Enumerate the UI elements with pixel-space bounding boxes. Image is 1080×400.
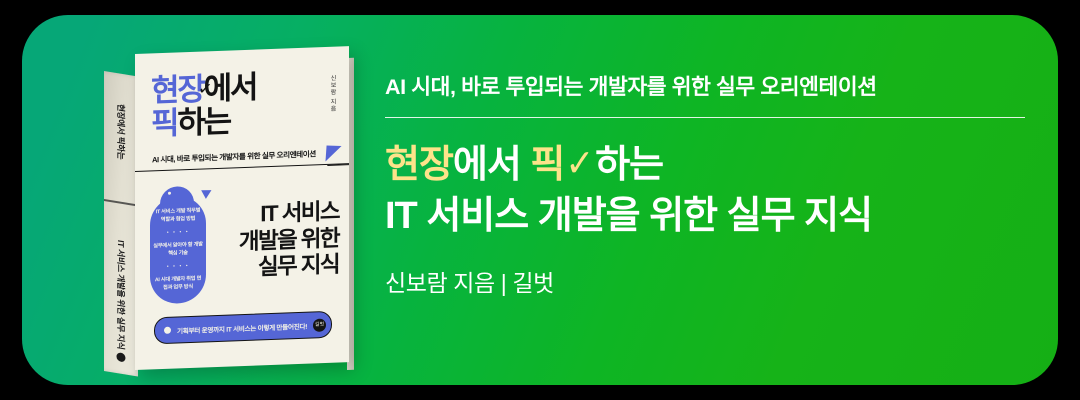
promo-title-hl-2: 픽 xyxy=(530,144,564,186)
cover-subtitle: IT 서비스 개발을 위한 실무 지식 xyxy=(239,199,339,282)
promo-author-publisher: 신보람 지음 | 길벗 xyxy=(385,264,1035,298)
promo-text-column: AI 시대, 바로 투입되는 개발자를 위한 실무 오리엔테이션 현장에서 픽✓… xyxy=(385,75,1035,298)
promo-checkmark-icon: ✓ xyxy=(566,139,594,190)
cover-title: 현장에서 픽하는 xyxy=(151,69,331,141)
spine-divider xyxy=(104,199,138,206)
spine-title-lower: IT 서비스 개발을 위한 실무 지식 xyxy=(115,214,127,376)
cover-title-hl-2: 픽 xyxy=(151,105,177,141)
blob-head-icon xyxy=(160,186,194,204)
blob-item-3: AI 시대 개발자 취업 면접과 업무 방식 xyxy=(150,268,206,299)
book-spine: 현장에서 픽하는 IT 서비스 개발을 위한 실무 지식 xyxy=(104,71,138,377)
promo-title-block: 현장에서 픽✓하는 IT 서비스 개발을 위한 실무 지식 xyxy=(385,140,1035,242)
headline-divider xyxy=(385,117,1025,119)
cover-subtitle-line-1: IT 서비스 xyxy=(239,199,339,229)
spine-title-upper: 현장에서 픽하는 xyxy=(115,76,127,188)
promo-banner: 현장에서 픽하는 IT 서비스 개발을 위한 실무 지식 신보람 지음 현장에서… xyxy=(22,15,1058,385)
cover-highlight-pill: 기획부터 운영까지 IT 서비스는 이렇게 만들어진다! 길벗 xyxy=(154,311,332,345)
pill-text: 기획부터 운영까지 IT 서비스는 이렇게 만들어진다! xyxy=(177,320,307,335)
promo-title-hl-1: 현장 xyxy=(385,144,453,186)
promo-title-line-2: IT 서비스 개발을 위한 실무 지식 xyxy=(385,191,1035,242)
cover-title-line-2: 픽하는 xyxy=(151,102,331,141)
book-cover-3d: 현장에서 픽하는 IT 서비스 개발을 위한 실무 지식 신보람 지음 현장에서… xyxy=(104,37,364,385)
blob-item-1: IT 서비스 개발 직무별 역할과 협업 방법 xyxy=(150,200,206,231)
cover-feature-blob: IT 서비스 개발 직무별 역할과 협업 방법 • • • • 실무에서 알아야… xyxy=(150,195,206,304)
book-front-cover: 신보람 지음 현장에서 픽하는 ✓ AI 시대, 바로 투입되는 개발자를 위한… xyxy=(135,46,349,370)
publisher-badge: 길벗 xyxy=(313,318,326,331)
promo-title-text-2: 하는 xyxy=(595,144,663,186)
pill-bullet-icon xyxy=(164,327,171,334)
cover-arrow-icon xyxy=(325,145,341,161)
promo-headline: AI 시대, 바로 투입되는 개발자를 위한 실무 오리엔테이션 xyxy=(385,75,1035,101)
promo-title-text-1: 에서 xyxy=(453,144,530,186)
cover-checkmark-icon: ✓ xyxy=(197,79,214,100)
promo-title-line-1: 현장에서 픽✓하는 xyxy=(385,140,1035,191)
cover-title-rest-2: 하는 xyxy=(177,103,230,140)
cover-tagline: AI 시대, 바로 투입되는 개발자를 위한 실무 오리엔테이션 xyxy=(152,148,316,165)
banner-stage: 현장에서 픽하는 IT 서비스 개발을 위한 실무 지식 신보람 지음 현장에서… xyxy=(0,0,1080,400)
cover-subtitle-line-2: 개발을 위한 xyxy=(239,225,339,255)
cover-subtitle-line-3: 실무 지식 xyxy=(239,252,339,282)
blob-body: IT 서비스 개발 직무별 역할과 협업 방법 • • • • 실무에서 알아야… xyxy=(150,195,206,304)
blob-item-2: 실무에서 알아야 할 개발 핵심 기술 xyxy=(150,234,206,265)
cover-title-hl-1: 현장 xyxy=(151,71,204,108)
blob-tail-icon xyxy=(201,186,214,199)
